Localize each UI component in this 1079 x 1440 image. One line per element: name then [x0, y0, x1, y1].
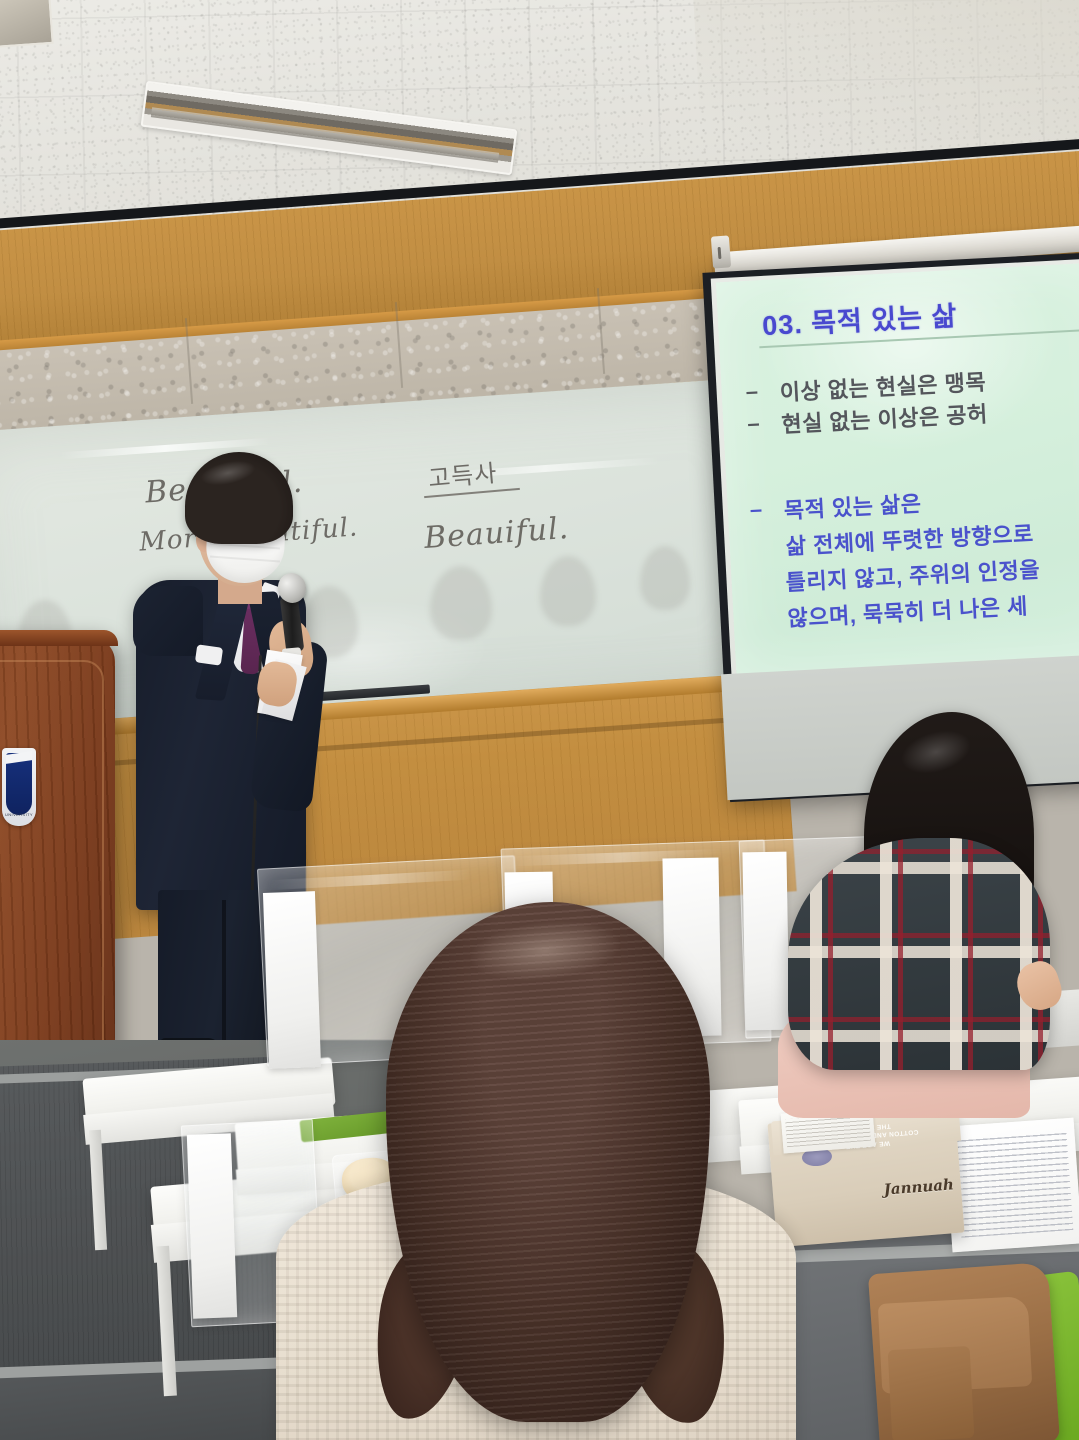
projected-slide: 03. 목적 있는 삶 – 이상 없는 현실은 맹목 – 현실 없는 이상은 공… [716, 262, 1079, 676]
slide-bullet-dash: – [745, 378, 759, 405]
divider-paper-panel [263, 891, 321, 1069]
attendee-plaid-scarf [788, 838, 1050, 1070]
podium-panel-moulding [0, 660, 104, 1094]
divider-paper-panel [187, 1133, 237, 1318]
podium-top [0, 630, 118, 646]
slide-bullet-dash: – [747, 410, 761, 437]
speaker-trouser-seam [222, 900, 226, 1060]
attendee-foreground-hair [386, 902, 710, 1422]
leather-bag-pocket [888, 1346, 975, 1440]
handout-text-lines [955, 1132, 1074, 1238]
divider-paper-panel [742, 852, 789, 1031]
whiteboard-text-korean: 고득사 [427, 453, 499, 494]
ceiling-fixture [0, 0, 54, 48]
gift-box-brand-logo: Jannuah [883, 1175, 955, 1206]
slide-title: 03. 목적 있는 삶 [761, 294, 958, 343]
speaker-shoulder [133, 586, 203, 656]
speaker-shirt-cuff [195, 644, 223, 665]
slide-bullet-dash: – [749, 496, 763, 523]
crest-label: UNIVERSITY [2, 812, 36, 824]
lecture-hall-photo: Beautiful. More beautiful. 고득사 Beauiful.… [0, 0, 1079, 1440]
slide-bullet-3: 목적 있는 삶은 [783, 486, 922, 525]
